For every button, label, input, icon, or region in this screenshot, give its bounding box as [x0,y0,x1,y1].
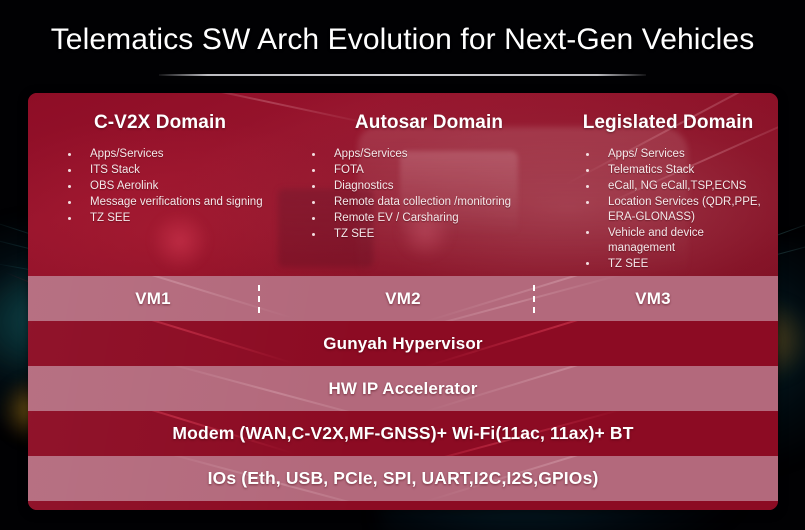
vm-divider-dashed [258,285,260,313]
stack-row-footer [28,501,778,510]
vm-label: VM3 [635,289,670,309]
list-item: Vehicle and device management [582,226,770,255]
title-block: Telematics SW Arch Evolution for Next-Ge… [0,22,805,76]
list-item: TZ SEE [582,257,770,272]
bullet-dot-icon [312,185,315,188]
list-item: Remote EV / Carsharing [308,211,550,226]
bullet-dot-icon [312,169,315,172]
list-item-label: Vehicle and device management [608,227,704,254]
bullet-dot-icon [312,153,315,156]
bullet-dot-icon [312,217,315,220]
list-item-label: TZ SEE [608,258,648,270]
list-item-label: Remote data collection /monitoring [334,196,511,208]
stack-row-accelerator: HW IP Accelerator [28,366,778,411]
list-item-label: eCall, NG eCall,TSP,ECNS [608,180,746,192]
domain-heading-legislated: Legislated Domain [566,112,770,134]
list-item-label: Message verifications and signing [90,196,263,208]
list-item-label: Apps/Services [334,148,408,160]
hypervisor-label: Gunyah Hypervisor [323,334,482,354]
list-item: Apps/ Services [582,147,770,162]
bullet-dot-icon [586,201,589,204]
vm-cell-2: VM2 [278,276,528,321]
list-item-label: OBS Aerolink [90,180,158,192]
list-item: eCall, NG eCall,TSP,ECNS [582,179,770,194]
list-item: Diagnostics [308,179,550,194]
bullet-dot-icon [586,262,589,265]
list-item-label: Location Services (QDR,PPE, ERA-GLONASS) [608,196,761,223]
list-item: FOTA [308,163,550,178]
modem-label: Modem (WAN,C-V2X,MF-GNSS)+ Wi-Fi(11ac, 1… [172,423,633,444]
domain-heading-c-v2x: C-V2X Domain [36,112,292,134]
bullet-dot-icon [586,231,589,234]
title-divider-rule [159,74,646,76]
architecture-panel: C-V2X Domain Apps/Services ITS Stack OBS… [28,93,778,510]
slide-canvas: Telematics SW Arch Evolution for Next-Ge… [0,0,805,530]
bullet-dot-icon [68,153,71,156]
vm-divider-dashed [533,285,535,313]
list-item: TZ SEE [308,227,550,242]
list-item: Apps/Services [64,147,292,162]
list-item: Apps/Services [308,147,550,162]
list-item: OBS Aerolink [64,179,292,194]
bullet-dot-icon [586,185,589,188]
domain-bullet-list-c-v2x: Apps/Services ITS Stack OBS Aerolink Mes… [64,147,292,226]
list-item-label: Remote EV / Carsharing [334,212,459,224]
list-item-label: FOTA [334,164,364,176]
domain-column-legislated: Legislated Domain Apps/ Services Telemat… [558,112,778,276]
page-title: Telematics SW Arch Evolution for Next-Ge… [0,22,805,58]
domain-column-c-v2x: C-V2X Domain Apps/Services ITS Stack OBS… [28,112,300,276]
list-item-label: ITS Stack [90,164,140,176]
list-item: ITS Stack [64,163,292,178]
list-item: Location Services (QDR,PPE, ERA-GLONASS) [582,195,770,224]
ios-label: IOs (Eth, USB, PCIe, SPI, UART,I2C,I2S,G… [208,468,599,489]
list-item-label: Telematics Stack [608,164,694,176]
stack-row-modem: Modem (WAN,C-V2X,MF-GNSS)+ Wi-Fi(11ac, 1… [28,411,778,456]
domain-bullet-list-autosar: Apps/Services FOTA Diagnostics Remote da… [308,147,550,242]
vm-label: VM2 [385,289,420,309]
list-item-label: TZ SEE [90,212,130,224]
accelerator-label: HW IP Accelerator [329,379,478,399]
vm-cell-1: VM1 [28,276,278,321]
domain-bullet-list-legislated: Apps/ Services Telematics Stack eCall, N… [582,147,770,271]
list-item-label: Apps/ Services [608,148,685,160]
bullet-dot-icon [312,233,315,236]
domain-column-autosar: Autosar Domain Apps/Services FOTA Diagno… [300,112,558,276]
bullet-dot-icon [586,169,589,172]
stack-row-vms: VM1 VM2 VM3 [28,276,778,321]
list-item: Message verifications and signing [64,195,292,210]
stack-row-ios: IOs (Eth, USB, PCIe, SPI, UART,I2C,I2S,G… [28,456,778,501]
list-item: TZ SEE [64,211,292,226]
row-streak [63,321,293,364]
bullet-dot-icon [68,185,71,188]
list-item-label: TZ SEE [334,228,374,240]
vm-cell-3: VM3 [528,276,778,321]
vm-cells: VM1 VM2 VM3 [28,276,778,321]
domain-columns: C-V2X Domain Apps/Services ITS Stack OBS… [28,93,778,276]
bullet-dot-icon [586,153,589,156]
bullet-dot-icon [68,201,71,204]
list-item: Remote data collection /monitoring [308,195,550,210]
list-item: Telematics Stack [582,163,770,178]
list-item-label: Apps/Services [90,148,164,160]
domains-header: C-V2X Domain Apps/Services ITS Stack OBS… [28,93,778,276]
stack-row-hypervisor: Gunyah Hypervisor [28,321,778,366]
vm-label: VM1 [135,289,170,309]
list-item-label: Diagnostics [334,180,393,192]
bullet-dot-icon [312,201,315,204]
bullet-dot-icon [68,169,71,172]
domain-heading-autosar: Autosar Domain [308,112,550,134]
bullet-dot-icon [68,217,71,220]
